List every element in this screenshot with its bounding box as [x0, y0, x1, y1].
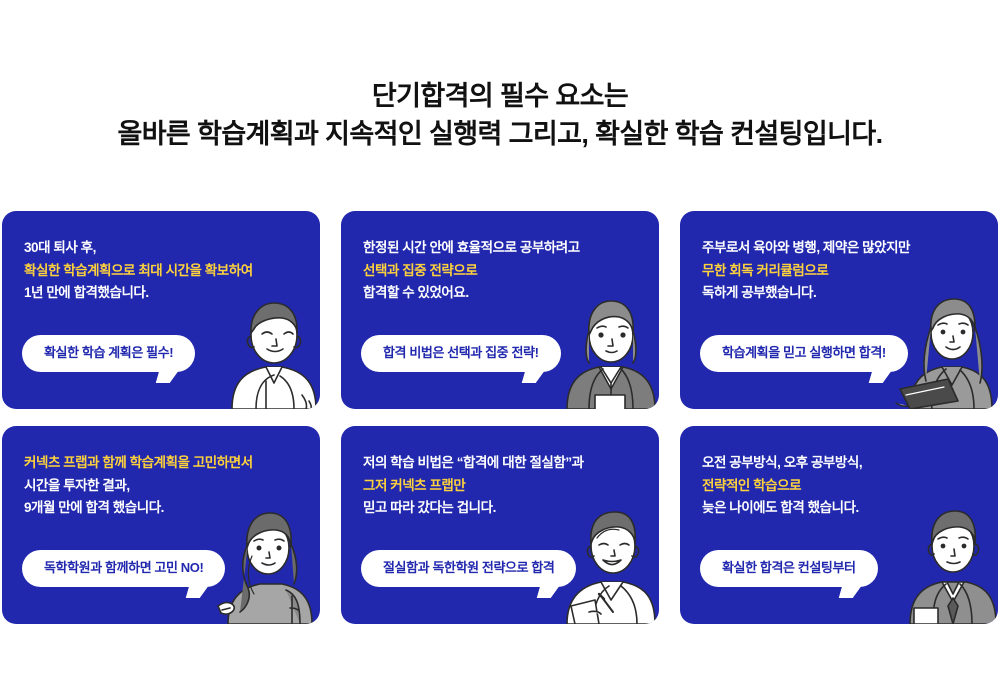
testimonial-card[interactable]: 저의 학습 비법은 “합격에 대한 절실함”과 그저 커넥츠 프랩만 믿고 따라…	[341, 426, 659, 624]
quote-line-highlighted: 커넥츠 프랩과 함께 학습계획을 고민하면서	[24, 452, 302, 475]
testimonial-card[interactable]: 오전 공부방식, 오후 공부방식, 전략적인 학습으로 늦은 나이에도 합격 했…	[680, 426, 998, 624]
quote-line: 1년 만에 합격했습니다.	[24, 282, 302, 305]
testimonial-card[interactable]: 한정된 시간 안에 효율적으로 공부하려고 선택과 집중 전략으로 합격할 수 …	[341, 211, 659, 409]
speech-bubble[interactable]: 합격 비법은 선택과 집중 전략!	[361, 335, 561, 372]
quote-line: 늦은 나이에도 합격 했습니다.	[702, 497, 980, 520]
page-headline: 단기합격의 필수 요소는 올바른 학습계획과 지속적인 실행력 그리고, 확실한…	[0, 78, 1000, 154]
quote-line: 저의 학습 비법은 “합격에 대한 절실함”과	[363, 452, 641, 475]
testimonial-quote: 오전 공부방식, 오후 공부방식, 전략적인 학습으로 늦은 나이에도 합격 했…	[702, 452, 980, 520]
speech-bubble[interactable]: 절실함과 독한학원 전략으로 합격	[361, 550, 576, 587]
quote-line-highlighted: 그저 커넥츠 프랩만	[363, 475, 641, 498]
speech-bubble-text: 절실함과 독한학원 전략으로 합격	[383, 560, 554, 575]
testimonial-quote: 주부로서 육아와 병행, 제약은 많았지만 무한 회독 커리큘럼으로 독하게 공…	[702, 237, 980, 305]
headline-line-2: 올바른 학습계획과 지속적인 실행력 그리고, 확실한 학습 컨설팅입니다.	[0, 114, 1000, 154]
quote-line: 30대 퇴사 후,	[24, 237, 302, 260]
quote-line: 주부로서 육아와 병행, 제약은 많았지만	[702, 237, 980, 260]
speech-bubble-text: 독학학원과 함께하면 고민 NO!	[44, 560, 203, 575]
avatar-illustration-woman-bob-blazer	[553, 287, 659, 409]
speech-bubble[interactable]: 확실한 학습 계획은 필수!	[22, 335, 195, 372]
testimonial-card[interactable]: 주부로서 육아와 병행, 제약은 많았지만 무한 회독 커리큘럼으로 독하게 공…	[680, 211, 998, 409]
speech-bubble[interactable]: 확실한 합격은 컨설팅부터	[700, 550, 878, 587]
quote-line-highlighted: 선택과 집중 전략으로	[363, 260, 641, 283]
quote-line: 독하게 공부했습니다.	[702, 282, 980, 305]
quote-line-highlighted: 확실한 학습계획으로 최대 시간을 확보하여	[24, 260, 302, 283]
quote-line-highlighted: 전략적인 학습으로	[702, 475, 980, 498]
testimonial-card[interactable]: 30대 퇴사 후, 확실한 학습계획으로 최대 시간을 확보하여 1년 만에 합…	[2, 211, 320, 409]
speech-bubble[interactable]: 학습계획을 믿고 실행하면 합격!	[700, 335, 908, 372]
testimonial-card-grid: 30대 퇴사 후, 확실한 학습계획으로 최대 시간을 확보하여 1년 만에 합…	[0, 211, 1000, 631]
speech-bubble[interactable]: 독학학원과 함께하면 고민 NO!	[22, 550, 225, 587]
testimonial-quote: 한정된 시간 안에 효율적으로 공부하려고 선택과 집중 전략으로 합격할 수 …	[363, 237, 641, 305]
avatar-illustration-man-short-hair-shirt	[214, 291, 320, 409]
quote-line: 한정된 시간 안에 효율적으로 공부하려고	[363, 237, 641, 260]
testimonial-quote: 커넥츠 프랩과 함께 학습계획을 고민하면서 시간을 투자한 결과, 9개월 만…	[24, 452, 302, 520]
headline-line-1: 단기합격의 필수 요소는	[0, 78, 1000, 114]
quote-line: 9개월 만에 합격 했습니다.	[24, 497, 302, 520]
speech-bubble-text: 확실한 학습 계획은 필수!	[44, 345, 173, 360]
quote-line-highlighted: 무한 회독 커리큘럼으로	[702, 260, 980, 283]
speech-bubble-text: 학습계획을 믿고 실행하면 합격!	[722, 345, 886, 360]
quote-line: 믿고 따라 갔다는 겁니다.	[363, 497, 641, 520]
testimonial-quote: 30대 퇴사 후, 확실한 학습계획으로 최대 시간을 확보하여 1년 만에 합…	[24, 237, 302, 305]
quote-line: 시간을 투자한 결과,	[24, 475, 302, 498]
testimonial-quote: 저의 학습 비법은 “합격에 대한 절실함”과 그저 커넥츠 프랩만 믿고 따라…	[363, 452, 641, 520]
testimonial-card[interactable]: 커넥츠 프랩과 함께 학습계획을 고민하면서 시간을 투자한 결과, 9개월 만…	[2, 426, 320, 624]
speech-bubble-text: 확실한 합격은 컨설팅부터	[722, 560, 856, 575]
speech-bubble-text: 합격 비법은 선택과 집중 전략!	[383, 345, 539, 360]
quote-line: 오전 공부방식, 오후 공부방식,	[702, 452, 980, 475]
promo-page: 단기합격의 필수 요소는 올바른 학습계획과 지속적인 실행력 그리고, 확실한…	[0, 0, 1000, 689]
quote-line: 합격할 수 있었어요.	[363, 282, 641, 305]
